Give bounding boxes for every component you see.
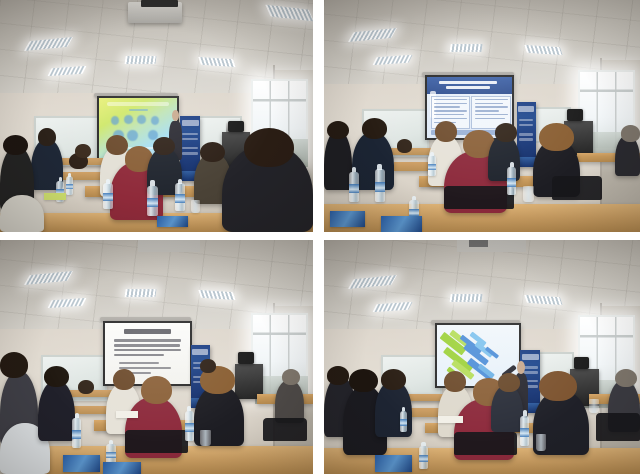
handout [44, 193, 66, 200]
ceiling-light [450, 294, 483, 302]
attendee [491, 385, 523, 432]
attendee-head [327, 366, 349, 385]
water-bottle [72, 418, 81, 448]
attendee-head [498, 373, 520, 392]
conference-chair [552, 176, 603, 199]
water-bottle [520, 416, 529, 446]
attendee-head [78, 380, 94, 394]
water-bottle [185, 411, 194, 441]
attendee-head [381, 369, 406, 390]
attendee-head [106, 135, 128, 156]
ceiling-light [450, 44, 483, 52]
attendee-head [539, 371, 577, 401]
attendee-head [0, 352, 28, 378]
attendee [0, 195, 44, 232]
brochure [381, 216, 422, 232]
video-camera-icon [567, 109, 583, 121]
conference-chair [125, 430, 188, 453]
attendee-head [200, 142, 225, 163]
ceiling-light [125, 289, 157, 297]
water-bottle [507, 167, 516, 195]
water-bottle [147, 186, 158, 216]
photo-bottom-right[interactable] [324, 240, 640, 474]
drinking-glass [536, 434, 547, 450]
video-camera-icon [238, 352, 254, 364]
brochure [157, 216, 188, 228]
attendee-head [362, 118, 387, 139]
attendee-head [244, 128, 294, 167]
attendee [38, 380, 76, 441]
photo-top-left[interactable] [0, 0, 313, 232]
attendee-head [141, 376, 172, 404]
ceiling-beam [138, 240, 201, 252]
attendee-head [435, 121, 457, 142]
water-bottle [428, 155, 436, 176]
attendee-head [153, 137, 175, 156]
photo-top-right[interactable] [324, 0, 640, 232]
drinking-glass [523, 186, 534, 202]
projector-mount [141, 0, 179, 7]
attendee-head [282, 369, 301, 385]
attendee-head [3, 135, 28, 156]
water-bottle [375, 169, 385, 201]
video-camera-icon [228, 121, 244, 133]
handout [116, 411, 138, 418]
water-bottle [66, 176, 74, 195]
ceiling-light [125, 56, 157, 64]
attendee-head [113, 369, 135, 390]
attendee-head [349, 369, 377, 392]
water-bottle [175, 183, 185, 211]
conference-chair [263, 418, 307, 441]
water-bottle [419, 446, 428, 469]
attendee-head [200, 359, 216, 373]
attendee-head [327, 121, 349, 140]
drinking-glass [191, 200, 200, 214]
attendee-head [397, 139, 413, 153]
attendee-head [44, 366, 69, 387]
brochure [375, 455, 413, 471]
water-bottle [349, 172, 358, 202]
brochure [330, 211, 365, 227]
photo-bottom-left[interactable] [0, 240, 313, 474]
projector-mount [469, 240, 488, 247]
attendee-head [539, 123, 574, 151]
attendee-head [495, 123, 517, 142]
water-bottle [400, 411, 408, 432]
attendee-head [615, 369, 637, 388]
handout [438, 416, 463, 423]
seminar-room-scene-2 [324, 0, 640, 232]
attendee [275, 380, 303, 422]
attendee-head [444, 371, 466, 392]
drinking-glass [589, 399, 598, 413]
photo-collage: Audience seated in a seminar room facing… [0, 0, 640, 474]
seminar-room-scene-4 [324, 240, 640, 474]
seminar-room-scene-3 [0, 240, 313, 474]
brochure [103, 462, 141, 474]
conference-chair [596, 413, 640, 441]
attendee-head [75, 144, 91, 158]
attendee-head [38, 128, 57, 147]
conference-chair [444, 186, 514, 209]
water-bottle [103, 183, 112, 209]
ceiling-beam [457, 240, 527, 252]
video-camera-icon [574, 357, 590, 369]
attendee-head [621, 125, 640, 141]
brochure [63, 455, 101, 471]
conference-chair [454, 432, 517, 455]
drinking-glass [200, 430, 211, 446]
seminar-room-scene-1 [0, 0, 313, 232]
